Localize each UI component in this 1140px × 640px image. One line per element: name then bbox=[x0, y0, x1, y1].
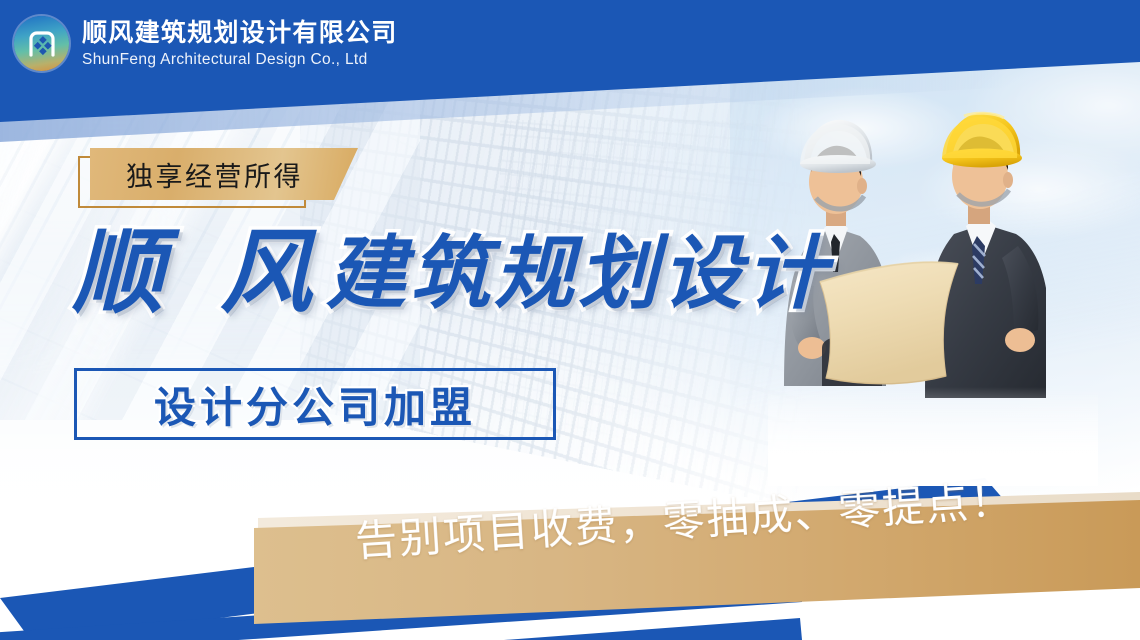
company-logo-icon bbox=[14, 16, 69, 71]
company-name-en: ShunFeng Architectural Design Co., Ltd bbox=[82, 52, 398, 68]
brand-lockup[interactable]: 顺风建筑规划设计有限公司 ShunFeng Architectural Desi… bbox=[14, 16, 398, 71]
headline-part-one: 顺 风 bbox=[72, 228, 324, 318]
page-title: 顺 风 建筑规划设计 bbox=[72, 228, 830, 318]
highlight-tag-fill: 独享经营所得 bbox=[90, 148, 358, 200]
subtitle-label: 设计分公司加盟 bbox=[154, 374, 476, 435]
headline-part-two: 建筑规划设计 bbox=[326, 233, 830, 319]
brand-text: 顺风建筑规划设计有限公司 ShunFeng Architectural Desi… bbox=[82, 20, 398, 68]
subtitle-box: 设计分公司加盟 bbox=[74, 368, 556, 440]
highlight-tag: 独享经营所得 bbox=[78, 148, 346, 200]
highlight-tag-label: 独享经营所得 bbox=[90, 155, 303, 194]
promo-banner: 告别项目收费，零抽成、零提点！ 顺风建筑规划设计有限公司 ShunFeng Ar… bbox=[0, 0, 1140, 640]
company-name-cn: 顺风建筑规划设计有限公司 bbox=[82, 20, 398, 45]
